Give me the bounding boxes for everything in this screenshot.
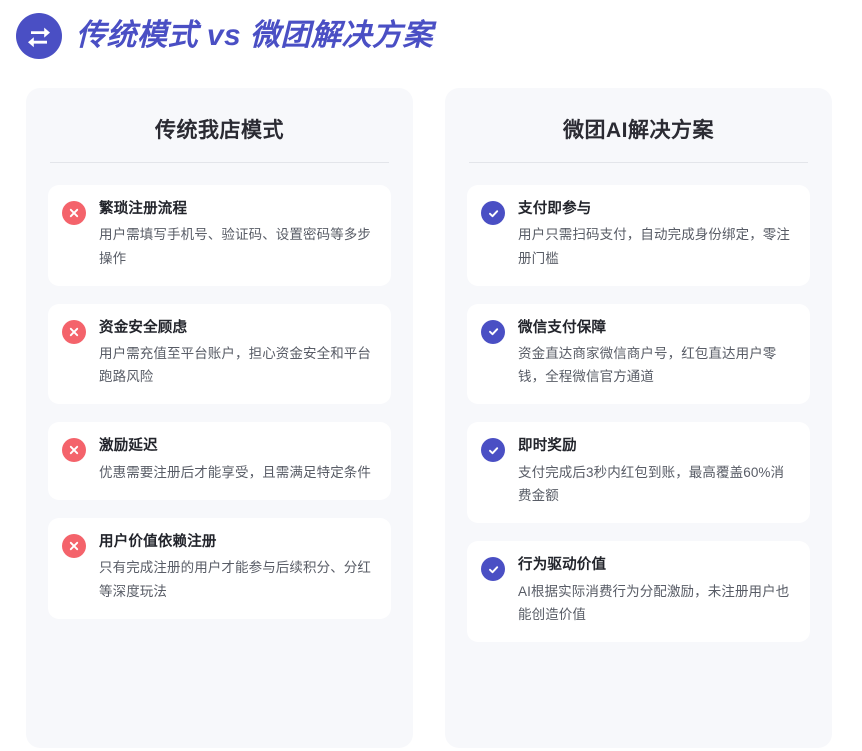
item-list-traditional: 繁琐注册流程 用户需填写手机号、验证码、设置密码等多步操作 资金安全顾虑 用户需…	[48, 185, 391, 619]
panel-title-weituan-ai: 微团AI解决方案	[467, 114, 810, 162]
panel-title-traditional: 传统我店模式	[48, 114, 391, 162]
close-icon	[62, 320, 86, 344]
panel-weituan-ai: 微团AI解决方案 支付即参与 用户只需扫码支付，自动完成身份绑定，零注册门槛	[445, 88, 832, 748]
item-body: 即时奖励 支付完成后3秒内红包到账，最高覆盖60%消费金额	[518, 436, 794, 507]
item-body: 繁琐注册流程 用户需填写手机号、验证码、设置密码等多步操作	[99, 199, 375, 270]
item-title: 资金安全顾虑	[99, 318, 375, 338]
item-description: AI根据实际消费行为分配激励，未注册用户也能创造价值	[518, 580, 794, 626]
item-list-weituan-ai: 支付即参与 用户只需扫码支付，自动完成身份绑定，零注册门槛 微信支付保障 资金直…	[467, 185, 810, 642]
item-description: 资金直达商家微信商户号，红包直达用户零钱，全程微信官方通道	[518, 342, 794, 388]
panel-traditional: 传统我店模式 繁琐注册流程 用户需填写手机号、验证码、设置密码等多步操作	[26, 88, 413, 748]
item-body: 资金安全顾虑 用户需充值至平台账户，担心资金安全和平台跑路风险	[99, 318, 375, 389]
item-title: 微信支付保障	[518, 318, 794, 338]
item-description: 用户需填写手机号、验证码、设置密码等多步操作	[99, 223, 375, 269]
list-item[interactable]: 微信支付保障 资金直达商家微信商户号，红包直达用户零钱，全程微信官方通道	[467, 304, 810, 405]
page-header: 传统模式 vs 微团解决方案	[16, 10, 433, 62]
list-item[interactable]: 激励延迟 优惠需要注册后才能享受，且需满足特定条件	[48, 422, 391, 500]
check-icon	[481, 557, 505, 581]
item-description: 只有完成注册的用户才能参与后续积分、分红等深度玩法	[99, 556, 375, 602]
item-body: 行为驱动价值 AI根据实际消费行为分配激励，未注册用户也能创造价值	[518, 555, 794, 626]
item-title: 即时奖励	[518, 436, 794, 456]
list-item[interactable]: 行为驱动价值 AI根据实际消费行为分配激励，未注册用户也能创造价值	[467, 541, 810, 642]
close-icon	[62, 438, 86, 462]
item-description: 支付完成后3秒内红包到账，最高覆盖60%消费金额	[518, 461, 794, 507]
item-body: 支付即参与 用户只需扫码支付，自动完成身份绑定，零注册门槛	[518, 199, 794, 270]
list-item[interactable]: 即时奖励 支付完成后3秒内红包到账，最高覆盖60%消费金额	[467, 422, 810, 523]
item-body: 激励延迟 优惠需要注册后才能享受，且需满足特定条件	[99, 436, 375, 484]
item-description: 用户需充值至平台账户，担心资金安全和平台跑路风险	[99, 342, 375, 388]
page-title: 传统模式 vs 微团解决方案	[76, 21, 433, 51]
close-icon	[62, 534, 86, 558]
item-body: 微信支付保障 资金直达商家微信商户号，红包直达用户零钱，全程微信官方通道	[518, 318, 794, 389]
comparison-columns: 传统我店模式 繁琐注册流程 用户需填写手机号、验证码、设置密码等多步操作	[26, 88, 862, 748]
item-title: 行为驱动价值	[518, 555, 794, 575]
panel-divider	[50, 162, 389, 163]
check-icon	[481, 438, 505, 462]
item-description: 用户只需扫码支付，自动完成身份绑定，零注册门槛	[518, 223, 794, 269]
comparison-page: 传统模式 vs 微团解决方案 传统我店模式 繁琐注册流程 用户需填写手机号、验证…	[0, 0, 862, 751]
item-description: 优惠需要注册后才能享受，且需满足特定条件	[99, 461, 375, 484]
item-body: 用户价值依赖注册 只有完成注册的用户才能参与后续积分、分红等深度玩法	[99, 532, 375, 603]
item-title: 激励延迟	[99, 436, 375, 456]
close-icon	[62, 201, 86, 225]
item-title: 支付即参与	[518, 199, 794, 219]
exchange-arrows-icon	[16, 13, 62, 59]
list-item[interactable]: 支付即参与 用户只需扫码支付，自动完成身份绑定，零注册门槛	[467, 185, 810, 286]
list-item[interactable]: 用户价值依赖注册 只有完成注册的用户才能参与后续积分、分红等深度玩法	[48, 518, 391, 619]
item-title: 繁琐注册流程	[99, 199, 375, 219]
check-icon	[481, 201, 505, 225]
item-title: 用户价值依赖注册	[99, 532, 375, 552]
list-item[interactable]: 繁琐注册流程 用户需填写手机号、验证码、设置密码等多步操作	[48, 185, 391, 286]
list-item[interactable]: 资金安全顾虑 用户需充值至平台账户，担心资金安全和平台跑路风险	[48, 304, 391, 405]
panel-divider	[469, 162, 808, 163]
check-icon	[481, 320, 505, 344]
